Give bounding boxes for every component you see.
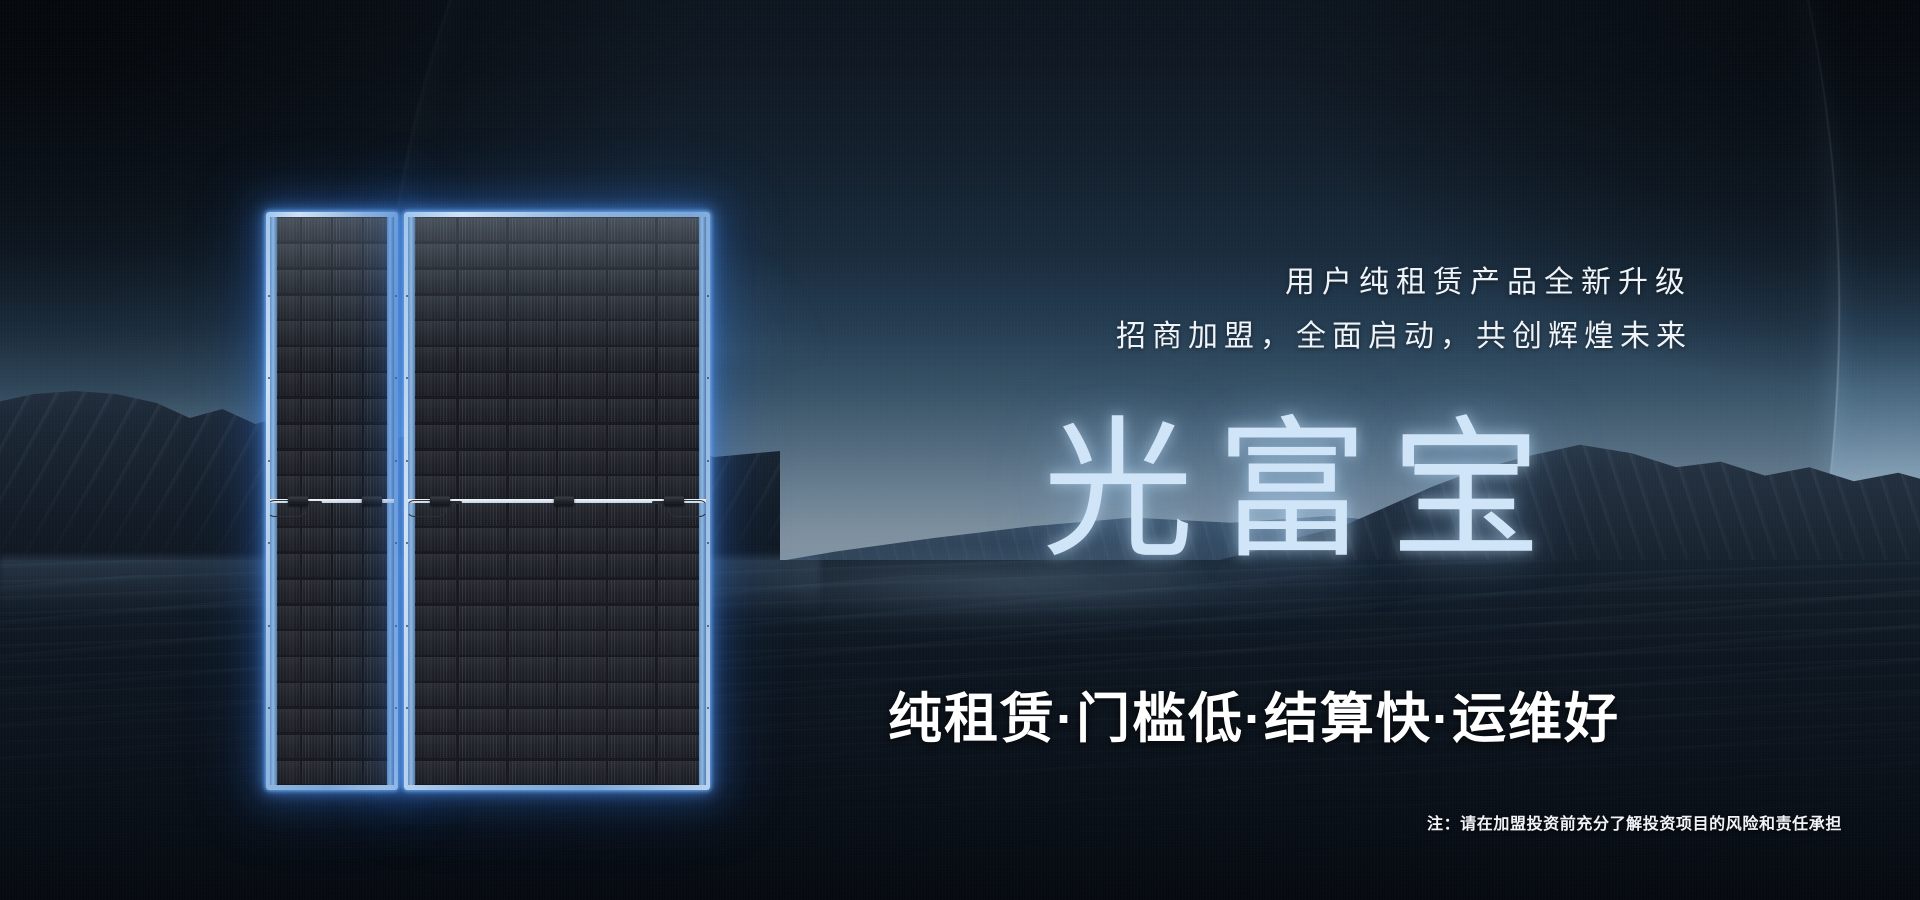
solar-cell <box>608 657 655 680</box>
solar-cell <box>558 631 605 654</box>
headline-line-1: 用户纯租赁产品全新升级 <box>1116 256 1692 310</box>
solar-cell <box>333 502 362 525</box>
solar-cell <box>409 580 456 603</box>
solar-cell <box>364 373 393 396</box>
solar-cell <box>271 683 300 706</box>
solar-cell <box>409 631 456 654</box>
solar-cell <box>459 347 506 370</box>
solar-cell <box>509 244 556 267</box>
junction-box-2 <box>362 497 382 506</box>
solar-cell <box>608 476 655 499</box>
solar-cell <box>608 606 655 629</box>
frame-screw <box>707 542 709 544</box>
solar-cell <box>364 425 393 448</box>
frame-screw <box>395 542 397 544</box>
frame-screw <box>707 707 709 709</box>
solar-cell <box>333 373 362 396</box>
solar-cell <box>333 735 362 758</box>
solar-cell <box>459 528 506 551</box>
solar-cell <box>271 554 300 577</box>
solar-cell <box>364 709 393 732</box>
frame-screw <box>268 625 270 627</box>
solar-cell <box>271 580 300 603</box>
solar-cell <box>608 709 655 732</box>
solar-cell <box>608 580 655 603</box>
solar-cell <box>459 631 506 654</box>
solar-cell <box>271 451 300 474</box>
solar-cell <box>658 373 705 396</box>
solar-cell <box>364 580 393 603</box>
solar-cell <box>658 657 705 680</box>
frame-screw <box>707 377 709 379</box>
solar-cell <box>271 631 300 654</box>
solar-cell <box>271 606 300 629</box>
solar-panel-left <box>266 212 398 790</box>
solar-cell <box>558 606 605 629</box>
solar-cell <box>302 502 331 525</box>
solar-cell <box>364 528 393 551</box>
frame-screw <box>707 460 709 462</box>
solar-cell <box>364 296 393 319</box>
solar-cell <box>333 244 362 267</box>
solar-cell <box>658 606 705 629</box>
solar-cell <box>558 451 605 474</box>
solar-cell <box>459 218 506 241</box>
solar-cell <box>459 709 506 732</box>
solar-cell <box>409 709 456 732</box>
solar-cell <box>459 425 506 448</box>
solar-cell <box>364 502 393 525</box>
solar-cell <box>509 580 556 603</box>
solar-cell <box>364 735 393 758</box>
solar-cell <box>608 321 655 344</box>
solar-cell <box>271 528 300 551</box>
frame-screw <box>406 542 408 544</box>
solar-cell <box>558 554 605 577</box>
solar-cell <box>509 425 556 448</box>
solar-cell <box>271 244 300 267</box>
solar-cell <box>364 244 393 267</box>
solar-cell <box>658 761 705 784</box>
solar-cell <box>409 683 456 706</box>
solar-cell <box>333 399 362 422</box>
solar-cell <box>302 425 331 448</box>
solar-cell <box>558 373 605 396</box>
solar-cell <box>509 528 556 551</box>
solar-cell <box>658 451 705 474</box>
slogan-text: 纯租赁·门槛低·结算快·运维好 <box>888 674 1620 753</box>
solar-cell <box>409 296 456 319</box>
solar-cell <box>608 761 655 784</box>
solar-cell <box>509 270 556 293</box>
solar-cell <box>333 631 362 654</box>
solar-cell <box>509 373 556 396</box>
solar-cell <box>608 218 655 241</box>
junction-box-1 <box>288 497 308 506</box>
junction-box-4 <box>554 497 574 506</box>
solar-panel-module <box>266 212 710 790</box>
solar-cell <box>608 735 655 758</box>
solar-cell <box>302 528 331 551</box>
solar-cell <box>364 399 393 422</box>
sky-vignette-right <box>1020 0 1920 460</box>
solar-cell <box>364 683 393 706</box>
solar-cell <box>271 373 300 396</box>
solar-cell <box>364 347 393 370</box>
solar-cell <box>333 296 362 319</box>
solar-cell <box>271 761 300 784</box>
solar-cell <box>658 399 705 422</box>
frame-screw <box>406 625 408 627</box>
frame-screw <box>395 625 397 627</box>
solar-cell <box>509 296 556 319</box>
solar-cell <box>558 683 605 706</box>
solar-cell <box>333 761 362 784</box>
solar-cell <box>509 709 556 732</box>
solar-cell <box>608 683 655 706</box>
solar-cell <box>459 735 506 758</box>
solar-cell <box>509 451 556 474</box>
solar-cell <box>608 244 655 267</box>
solar-cell <box>364 451 393 474</box>
solar-cell <box>271 270 300 293</box>
solar-cell <box>658 554 705 577</box>
solar-cell <box>509 554 556 577</box>
headline-line-2: 招商加盟，全面启动，共创辉煌未来 <box>1116 310 1692 364</box>
junction-box-3 <box>430 497 450 506</box>
solar-cell <box>409 218 456 241</box>
solar-cell <box>271 425 300 448</box>
solar-cell <box>459 554 506 577</box>
solar-cell <box>333 425 362 448</box>
promo-banner: 用户纯租赁产品全新升级 招商加盟，全面启动，共创辉煌未来 光富宝 纯租赁·门槛低… <box>0 0 1920 900</box>
solar-cell <box>271 709 300 732</box>
solar-cell <box>558 270 605 293</box>
solar-cell <box>302 373 331 396</box>
solar-cell <box>658 218 705 241</box>
frame-screw <box>406 295 408 297</box>
solar-cell <box>333 218 362 241</box>
frame-screw <box>707 295 709 297</box>
solar-cell <box>333 683 362 706</box>
solar-cell <box>409 761 456 784</box>
solar-cell <box>271 657 300 680</box>
solar-cell <box>658 347 705 370</box>
solar-cell <box>608 631 655 654</box>
panel-glass-right <box>408 217 706 785</box>
solar-cell <box>658 709 705 732</box>
solar-cell <box>509 631 556 654</box>
solar-panel-right <box>404 212 710 790</box>
solar-cell <box>409 606 456 629</box>
solar-cell <box>333 476 362 499</box>
solar-cell <box>608 399 655 422</box>
solar-cell <box>509 347 556 370</box>
headline-block: 用户纯租赁产品全新升级 招商加盟，全面启动，共创辉煌未来 <box>1116 256 1692 364</box>
solar-cell <box>333 270 362 293</box>
panel-glass-left <box>270 217 394 785</box>
solar-cell <box>364 321 393 344</box>
solar-cell <box>558 244 605 267</box>
solar-cell <box>509 606 556 629</box>
solar-cell <box>302 399 331 422</box>
solar-cell <box>271 321 300 344</box>
solar-cell <box>558 425 605 448</box>
solar-cell <box>558 502 605 525</box>
solar-cell <box>558 709 605 732</box>
solar-cell <box>409 270 456 293</box>
solar-cell <box>271 735 300 758</box>
solar-cell <box>459 657 506 680</box>
solar-cell <box>658 270 705 293</box>
solar-cell <box>608 373 655 396</box>
solar-cell <box>333 528 362 551</box>
solar-cell <box>409 244 456 267</box>
footnote-disclaimer: 注：请在加盟投资前充分了解投资项目的风险和责任承担 <box>1427 810 1842 834</box>
solar-cell <box>302 631 331 654</box>
solar-cell <box>302 321 331 344</box>
solar-cell <box>409 451 456 474</box>
solar-cell <box>302 296 331 319</box>
solar-cell <box>459 296 506 319</box>
solar-cell <box>333 657 362 680</box>
solar-cell <box>302 218 331 241</box>
frame-screw <box>395 460 397 462</box>
frame-screw <box>406 460 408 462</box>
solar-cell <box>558 296 605 319</box>
frame-screw <box>268 460 270 462</box>
solar-cell <box>333 451 362 474</box>
solar-cell <box>302 683 331 706</box>
solar-cell <box>459 244 506 267</box>
solar-cell <box>558 580 605 603</box>
solar-cell <box>459 606 506 629</box>
solar-cell <box>271 399 300 422</box>
solar-cell <box>409 425 456 448</box>
solar-cell <box>333 709 362 732</box>
solar-cell <box>558 657 605 680</box>
solar-cell <box>459 683 506 706</box>
solar-cell <box>608 296 655 319</box>
solar-cell <box>459 761 506 784</box>
solar-cell <box>364 218 393 241</box>
solar-cell <box>509 502 556 525</box>
solar-cell <box>558 347 605 370</box>
solar-cell <box>509 657 556 680</box>
solar-cell <box>271 296 300 319</box>
solar-cell <box>459 270 506 293</box>
solar-cell <box>658 528 705 551</box>
solar-cell <box>558 399 605 422</box>
solar-cell <box>558 735 605 758</box>
frame-screw <box>268 295 270 297</box>
frame-screw <box>395 295 397 297</box>
solar-cell <box>333 321 362 344</box>
solar-cell <box>459 580 506 603</box>
frame-screw <box>406 377 408 379</box>
solar-cell <box>364 554 393 577</box>
solar-cell <box>271 218 300 241</box>
solar-cell <box>558 218 605 241</box>
solar-cell <box>409 735 456 758</box>
junction-box-5 <box>664 497 684 506</box>
solar-cell <box>302 735 331 758</box>
solar-cell <box>409 321 456 344</box>
solar-cell <box>333 554 362 577</box>
solar-cell <box>558 321 605 344</box>
solar-cell <box>302 580 331 603</box>
solar-cell <box>509 683 556 706</box>
solar-cell <box>608 270 655 293</box>
solar-cell <box>364 606 393 629</box>
solar-cell <box>409 657 456 680</box>
solar-cell <box>658 425 705 448</box>
solar-cell <box>608 554 655 577</box>
solar-cell <box>459 451 506 474</box>
solar-cell <box>558 528 605 551</box>
solar-cell <box>658 631 705 654</box>
solar-cell <box>302 347 331 370</box>
solar-cell <box>509 761 556 784</box>
solar-cell <box>459 373 506 396</box>
solar-cell <box>409 399 456 422</box>
solar-cell <box>608 347 655 370</box>
solar-cell <box>302 761 331 784</box>
solar-cell <box>333 606 362 629</box>
frame-screw <box>707 625 709 627</box>
solar-cell <box>302 270 331 293</box>
solar-cell <box>658 244 705 267</box>
solar-cell <box>333 347 362 370</box>
solar-cell <box>658 321 705 344</box>
solar-cell <box>608 502 655 525</box>
solar-cell <box>509 399 556 422</box>
solar-cell <box>409 528 456 551</box>
solar-cell <box>558 761 605 784</box>
frame-screw <box>395 707 397 709</box>
solar-cell <box>409 347 456 370</box>
solar-cell <box>658 296 705 319</box>
solar-cell <box>658 580 705 603</box>
solar-cell <box>364 657 393 680</box>
solar-cell <box>364 270 393 293</box>
solar-cell <box>302 554 331 577</box>
frame-screw <box>395 377 397 379</box>
solar-cell <box>459 399 506 422</box>
solar-cell <box>509 321 556 344</box>
solar-cell <box>409 373 456 396</box>
solar-cell <box>364 761 393 784</box>
brand-title: 光富宝 <box>1042 406 1564 576</box>
frame-screw <box>268 377 270 379</box>
solar-cell <box>509 476 556 499</box>
solar-cell <box>459 502 506 525</box>
solar-cell <box>608 528 655 551</box>
frame-screw <box>268 542 270 544</box>
solar-cell <box>509 735 556 758</box>
solar-cell <box>302 606 331 629</box>
solar-cell <box>658 735 705 758</box>
solar-cell <box>302 709 331 732</box>
solar-cell <box>302 657 331 680</box>
solar-cell <box>459 476 506 499</box>
solar-cell <box>409 554 456 577</box>
solar-cell <box>658 683 705 706</box>
solar-cell <box>364 631 393 654</box>
solar-cell <box>608 425 655 448</box>
solar-cell <box>333 580 362 603</box>
solar-cell <box>271 347 300 370</box>
solar-cell <box>302 244 331 267</box>
solar-cell <box>608 451 655 474</box>
solar-cell <box>509 218 556 241</box>
solar-cell <box>459 321 506 344</box>
solar-cell <box>302 451 331 474</box>
